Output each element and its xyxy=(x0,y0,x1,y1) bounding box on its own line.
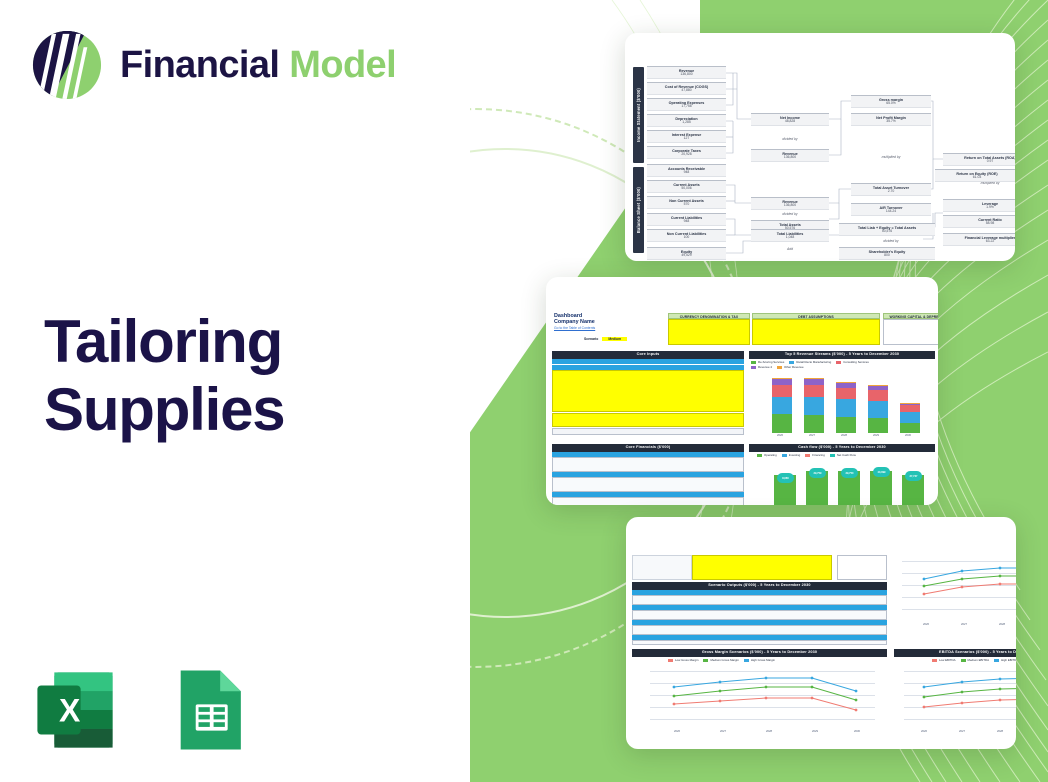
node-current-assets: Current Assets 50,006 xyxy=(647,180,726,193)
gross-margin-plot xyxy=(650,665,875,727)
circle-bar-chart-logo-icon xyxy=(30,28,104,102)
gm-xtick-2026: 2026 xyxy=(660,730,694,733)
node-total-liab-equity: Total Liab + Equity = Total Assets 50,57… xyxy=(839,223,935,236)
node-current-ratio: Current Ratio 58.98 xyxy=(943,215,1015,228)
cashflow-label-2028: 39,750 xyxy=(841,468,858,478)
scenario-top-lines xyxy=(902,555,1016,621)
scenario-assumption-labels xyxy=(632,555,692,580)
scenario-outputs-contribution xyxy=(632,620,887,625)
top5-xtick-2029: 2029 xyxy=(860,434,892,437)
eb-xtick-2028: 2028 xyxy=(984,730,1016,733)
cashflow-label-2029: 40,099 xyxy=(873,467,890,477)
operator-add: Add xyxy=(751,247,829,251)
node-gross-margin: Gross margin 65.0% xyxy=(851,95,931,108)
core-inputs-total-row xyxy=(552,428,744,435)
scenario-outputs-gross-margin xyxy=(632,605,887,610)
node-non-current-assets: Non Current Assets 570 xyxy=(647,196,726,209)
stack-bar-2029 xyxy=(868,385,888,433)
top5-xtick-2026: 2026 xyxy=(764,434,796,437)
core-inputs-col-header xyxy=(552,359,744,364)
brand-logo: Financial Model xyxy=(30,28,396,102)
scenario-outputs-rows-2 xyxy=(632,610,887,620)
gm-xtick-2028: 2028 xyxy=(752,730,786,733)
ebitda-legend: Low EBITDA Medium EBITDA High EBITDA xyxy=(932,658,1016,662)
node-roa: Return on Total Assets (ROA) 0.97 xyxy=(943,153,1015,166)
stack-bar-2028 xyxy=(836,382,856,433)
file-format-icons: X xyxy=(28,663,254,757)
top5-legend: Re-Scoring Services Retail Recto Manufac… xyxy=(751,360,937,364)
node-accounts-receivable: Accounts Receivable 948 xyxy=(647,164,726,177)
stack-bar-2030 xyxy=(900,403,920,433)
operator-divided-by-1: divided by xyxy=(751,137,829,141)
node-depreciation: Depreciation 1,285 xyxy=(647,114,726,127)
panel-title-ebitda-scenarios: EBITDA Scenarios ($'000) - 5 Years to De… xyxy=(894,649,1016,657)
top5-revenue-plot xyxy=(764,371,932,433)
cashflow-legend: Operating Investing Financing Net Cash F… xyxy=(757,453,937,457)
table-of-contents-link[interactable]: Go to the Table of Contents xyxy=(554,326,595,330)
node-cogs: Cost of Revenue (COGS) 47,880 xyxy=(647,82,726,95)
top5-xtick-2030: 2030 xyxy=(892,434,924,437)
company-name: Company Name xyxy=(554,319,595,325)
node-net-income: Net Income 48,828 xyxy=(751,113,829,126)
panel-title-top5-revenue: Top 5 Revenue Streams ($'000) - 5 Years … xyxy=(749,351,935,359)
debt-assumptions-grid[interactable] xyxy=(752,319,880,345)
page-title-line-1: Tailoring xyxy=(44,308,284,376)
core-inputs-sub-header xyxy=(552,365,744,370)
dashboard-header: Dashboard Company Name Go to the Table o… xyxy=(554,313,595,330)
node-interest-expense: Interest Expense 127 xyxy=(647,130,726,143)
node-current-liabilities: Current Liabilities 948 xyxy=(647,213,726,226)
top5-xtick-2027: 2027 xyxy=(796,434,828,437)
dupont-analysis-card[interactable]: Income Statement ($'000) Balance Sheet (… xyxy=(625,33,1015,261)
brand-name-part1: Financial xyxy=(120,44,279,86)
gm-xtick-2029: 2029 xyxy=(798,730,832,733)
gm-xtick-2030: 2030 xyxy=(840,730,874,733)
top5-xtick-2028: 2028 xyxy=(828,434,860,437)
panel-title-core-inputs: Core Inputs xyxy=(552,351,744,359)
node-financial-leverage-multiplier: Financial Leverage multiplier 63.22 xyxy=(943,233,1015,246)
node-corporate-taxes: Corporate Taxes 20,928 xyxy=(647,146,726,159)
google-sheets-icon xyxy=(160,663,254,757)
cashflow-label-2030: 37,737 xyxy=(905,471,922,481)
node-total-asset-turnover: Total Asset Turnover 2.70 xyxy=(851,183,931,196)
panel-title-gross-margin-scenarios: Gross Margin Scenarios ($'000) - 5 Years… xyxy=(632,649,887,657)
ebitda-lines xyxy=(904,665,1016,727)
sc-top-xtick-2028: 2028 xyxy=(986,623,1016,626)
slide-canvas: Financial Model Tailoring Supplies X xyxy=(0,0,1048,782)
scenario-analysis-card[interactable]: 2026 2027 2028 2029 2030 Scenario Output… xyxy=(626,517,1016,749)
sc-top-xtick-2027: 2027 xyxy=(948,623,980,626)
scenario-active-values xyxy=(837,555,887,580)
brand-name-part2: Model xyxy=(289,44,396,86)
top5-legend-2: Revenue 4 Other Revenue xyxy=(751,365,937,369)
core-financials-rows-1 xyxy=(552,457,744,472)
svg-text:X: X xyxy=(59,692,81,728)
panel-title-core-financials: Core Financials ($'000) xyxy=(552,444,744,452)
operator-multiplied-by-1: multiplied by xyxy=(851,155,931,159)
ebitda-plot xyxy=(904,665,1016,727)
gross-margin-legend: Low Gross Margin Medium Gross Margin Hig… xyxy=(668,658,888,662)
scenario-outputs-rows-1 xyxy=(632,595,887,605)
scenario-label: Scenario xyxy=(584,337,598,341)
core-inputs-blank-rows[interactable] xyxy=(552,413,744,427)
node-revenue-3: Revenue 136,800 xyxy=(751,197,829,210)
node-shareholders-equity: Shareholder's Equity 800 xyxy=(839,247,935,260)
gross-margin-lines xyxy=(650,665,875,727)
scenario-outputs-ebitda xyxy=(632,635,887,640)
node-roe: Return on Equity (ROE) 61.03 xyxy=(935,169,1015,182)
cashflow-label-2026: 8,660 xyxy=(777,473,794,483)
panel-title-cash-flow: Cash flow ($'000) - 5 Years to December … xyxy=(749,444,935,452)
core-financials-contribution-row xyxy=(552,492,744,497)
node-ar-turnover: A/R Turnover 144.24 xyxy=(851,203,931,216)
scenario-assumption-inputs[interactable] xyxy=(692,555,832,580)
cashflow-label-2027: 39,759 xyxy=(809,468,826,478)
node-revenue: Revenue 136,800 xyxy=(647,66,726,79)
panel-title-scenario-outputs: Scenario Outputs ($'000) - 5 Years to De… xyxy=(632,582,887,590)
node-non-current-liabilities: Non Current Liabilities 100 xyxy=(647,229,726,242)
cashflow-plot: 8,660 39,759 39,750 40,099 37,737 xyxy=(764,463,932,505)
eb-xtick-2026: 2026 xyxy=(908,730,940,733)
node-equity: Equity 49,529 xyxy=(647,247,726,260)
brand-name: Financial Model xyxy=(120,44,396,87)
scenario-value[interactable]: Medium xyxy=(602,337,627,341)
node-revenue-2: Revenue 136,800 xyxy=(751,149,829,162)
node-net-profit-margin: Net Profit Margin 35.7% xyxy=(851,113,931,126)
page-title: Tailoring Supplies xyxy=(44,308,284,445)
node-leverage: Leverage 1.9% xyxy=(943,199,1015,212)
node-total-liabilities: Total Liabilities 1,048 xyxy=(751,229,829,242)
sc-top-xtick-2026: 2026 xyxy=(910,623,942,626)
scenario-outputs-rows-3 xyxy=(632,625,887,635)
scenario-selector[interactable]: Scenario Medium xyxy=(584,337,627,341)
microsoft-excel-icon: X xyxy=(28,663,122,757)
operator-divided-by-2: divided by xyxy=(751,212,829,216)
working-capital-grid[interactable] xyxy=(883,319,938,345)
stack-bar-2026 xyxy=(772,378,792,433)
eb-xtick-2027: 2027 xyxy=(946,730,978,733)
core-financials-gross-margin-row xyxy=(552,472,744,477)
currency-input-grid[interactable] xyxy=(668,319,750,345)
stack-bar-2027 xyxy=(804,378,824,433)
core-financials-rows-3 xyxy=(552,497,744,505)
scenario-outputs-rows-4 xyxy=(632,640,887,645)
dashboard-summary-card[interactable]: Dashboard Company Name Go to the Table o… xyxy=(546,277,938,505)
core-financials-rows-2 xyxy=(552,477,744,492)
node-operating-expenses: Operating Expenses 17,758 xyxy=(647,98,726,111)
scenario-top-plot xyxy=(902,555,1016,621)
operator-divided-by-3: divided by xyxy=(851,239,931,243)
gm-xtick-2027: 2027 xyxy=(706,730,740,733)
core-inputs-data-grid[interactable] xyxy=(552,370,744,412)
page-title-line-2: Supplies xyxy=(44,376,284,444)
